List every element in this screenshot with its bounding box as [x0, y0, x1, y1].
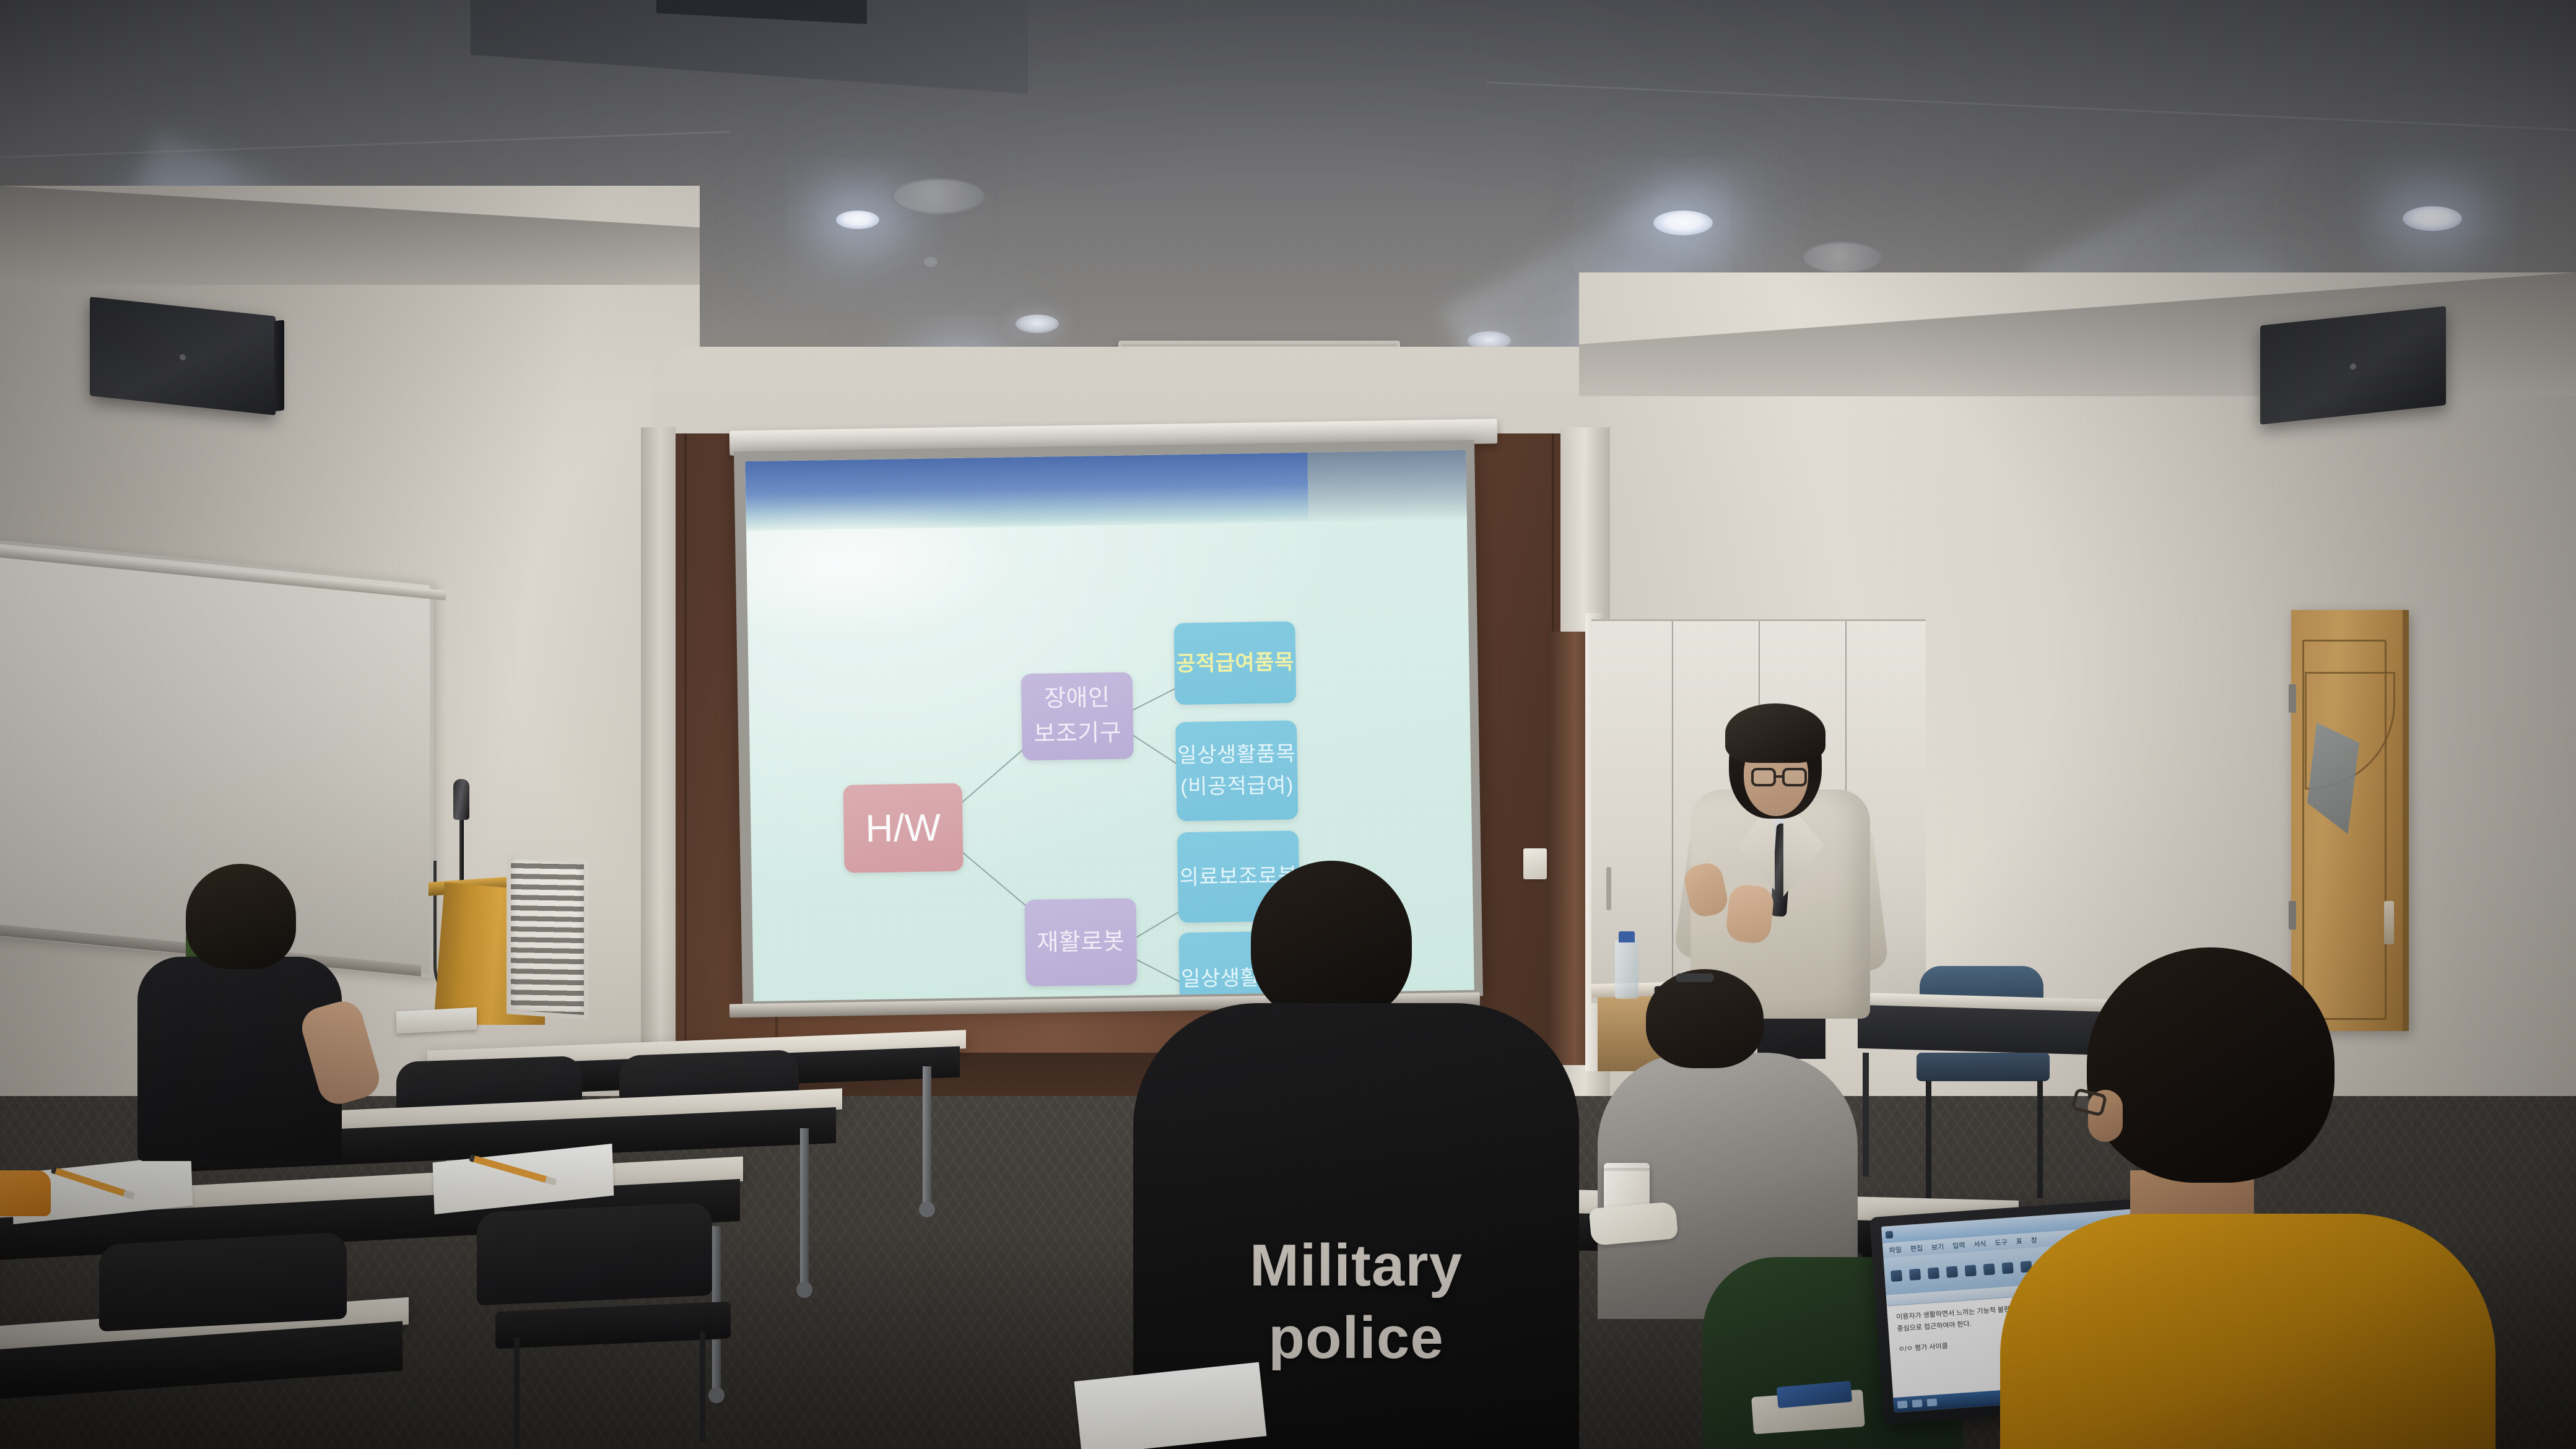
booklet-on-desk[interactable] — [396, 1007, 477, 1034]
wall-speaker-right — [2260, 306, 2446, 425]
menu-item[interactable]: 파일 — [1889, 1245, 1902, 1255]
jacket-text-line2: police — [1133, 1302, 1579, 1374]
presenter-hair — [1725, 703, 1825, 763]
taskbar-icon[interactable] — [1912, 1399, 1923, 1408]
diagram-node-label-line1: 재활로봇 — [1037, 924, 1125, 960]
chair-leg — [2037, 1081, 2043, 1198]
menu-item[interactable]: 서식 — [1973, 1238, 1986, 1249]
attendee-mp-head — [1251, 861, 1412, 1022]
diagram-node-label-line1: 장애인 — [1044, 681, 1110, 717]
menu-item[interactable]: 편집 — [1910, 1243, 1923, 1253]
wall-trim-column — [641, 427, 676, 1139]
diagram-node-branch-1: 장애인 보조기구 — [1021, 672, 1134, 760]
ceiling-speaker-icon — [892, 178, 985, 214]
desk-caster — [708, 1387, 724, 1403]
desk-leg — [923, 1066, 931, 1209]
menu-item[interactable]: 입력 — [1952, 1240, 1965, 1251]
glasses-bridge-icon — [1776, 775, 1785, 778]
menu-item[interactable]: 표 — [2016, 1236, 2022, 1247]
lecture-room-photo: H/W 장애인 보조기구 재활로봇 공적급여품목 일상생활품목 (비공적급여) … — [0, 0, 2576, 1449]
toolbar-icon[interactable] — [1983, 1264, 1995, 1276]
taskbar-icon[interactable] — [1927, 1398, 1938, 1406]
light-switch-plate[interactable] — [1523, 848, 1547, 879]
toolbar-icon[interactable] — [1909, 1269, 1921, 1281]
water-bottle[interactable] — [1615, 940, 1638, 999]
chair-leg — [700, 1331, 705, 1443]
blue-chair-seat[interactable] — [1917, 1053, 2050, 1081]
toolbar-icon[interactable] — [1891, 1270, 1902, 1282]
napkin[interactable] — [1589, 1201, 1679, 1246]
microphone-icon — [453, 779, 469, 820]
speaker-driver-icon — [2350, 363, 2356, 370]
diagram-node-label-line2: (비공적급여) — [1180, 770, 1294, 803]
cup-rim — [1604, 1168, 1650, 1171]
start-button-icon[interactable] — [1897, 1401, 1908, 1409]
glasses-icon — [1782, 768, 1807, 786]
door-lock-icon[interactable] — [2384, 901, 2394, 944]
jacket-back-text: Military police — [1133, 1229, 1579, 1374]
door-hinge-icon — [2289, 901, 2296, 929]
toolbar-icon[interactable] — [1946, 1266, 1958, 1278]
ceiling-downlight — [1653, 211, 1713, 235]
speaker-driver-icon — [180, 354, 186, 360]
app-icon — [1886, 1230, 1894, 1238]
ceiling-downlight — [1016, 315, 1059, 333]
diagram-node-label: 공적급여품목 — [1176, 646, 1294, 680]
table-leg — [1863, 1053, 1869, 1177]
door-hinge-icon — [2289, 684, 2296, 713]
attendee-orange-head — [2087, 947, 2334, 1183]
glasses-icon — [1751, 768, 1776, 786]
desk-caster — [796, 1282, 812, 1298]
menu-item[interactable]: 보기 — [1931, 1242, 1944, 1252]
ceiling-downlight — [836, 211, 879, 229]
diagram-node-leaf-2: 일상생활품목 (비공적급여) — [1175, 720, 1298, 821]
chair-leg — [1926, 1081, 1931, 1198]
slide-projector-glow — [745, 511, 1022, 640]
desk-caster — [919, 1201, 935, 1217]
wall-speaker-left — [90, 297, 276, 416]
diagram-node-label: H/W — [865, 799, 941, 858]
menu-item[interactable]: 창 — [2030, 1235, 2037, 1246]
diagram-node-leaf-1: 공적급여품목 — [1173, 621, 1296, 705]
chair-leg — [514, 1338, 520, 1449]
diagram-node-label-line1: 일상생활품목 — [1177, 738, 1295, 772]
diagram-node-label-line2: 보조기구 — [1033, 716, 1122, 752]
cabinet-handle-icon[interactable] — [1606, 867, 1611, 910]
diagram-node-branch-2: 재활로봇 — [1024, 898, 1137, 986]
chair-back[interactable] — [99, 1232, 347, 1332]
diagram-node-root: H/W — [843, 783, 963, 873]
ceiling-downlight — [2403, 206, 2462, 231]
desk-leg — [800, 1128, 809, 1289]
wall-louvre-vent — [507, 853, 588, 1019]
chair-back[interactable] — [477, 1203, 712, 1306]
orange-bag[interactable] — [0, 1170, 51, 1216]
presenter-hand-right — [1725, 883, 1775, 944]
attendee-orange-shirt-body — [2000, 1214, 2495, 1449]
ceiling-speaker-icon — [1802, 241, 1882, 274]
attendee-left-head — [186, 864, 296, 969]
jacket-text-line1: Military — [1133, 1229, 1579, 1302]
hair-clip-icon — [1676, 973, 1714, 982]
toolbar-icon[interactable] — [1928, 1268, 1939, 1279]
attendee-gray-head — [1646, 969, 1764, 1068]
toolbar-icon[interactable] — [2002, 1262, 2014, 1274]
toolbar-icon[interactable] — [1965, 1265, 1977, 1277]
menu-item[interactable]: 도구 — [1995, 1237, 2008, 1248]
speaker-side — [274, 320, 284, 412]
room-door[interactable] — [2291, 610, 2409, 1031]
bottle-cap-icon — [1619, 931, 1635, 942]
smoke-detector-icon — [926, 259, 936, 265]
